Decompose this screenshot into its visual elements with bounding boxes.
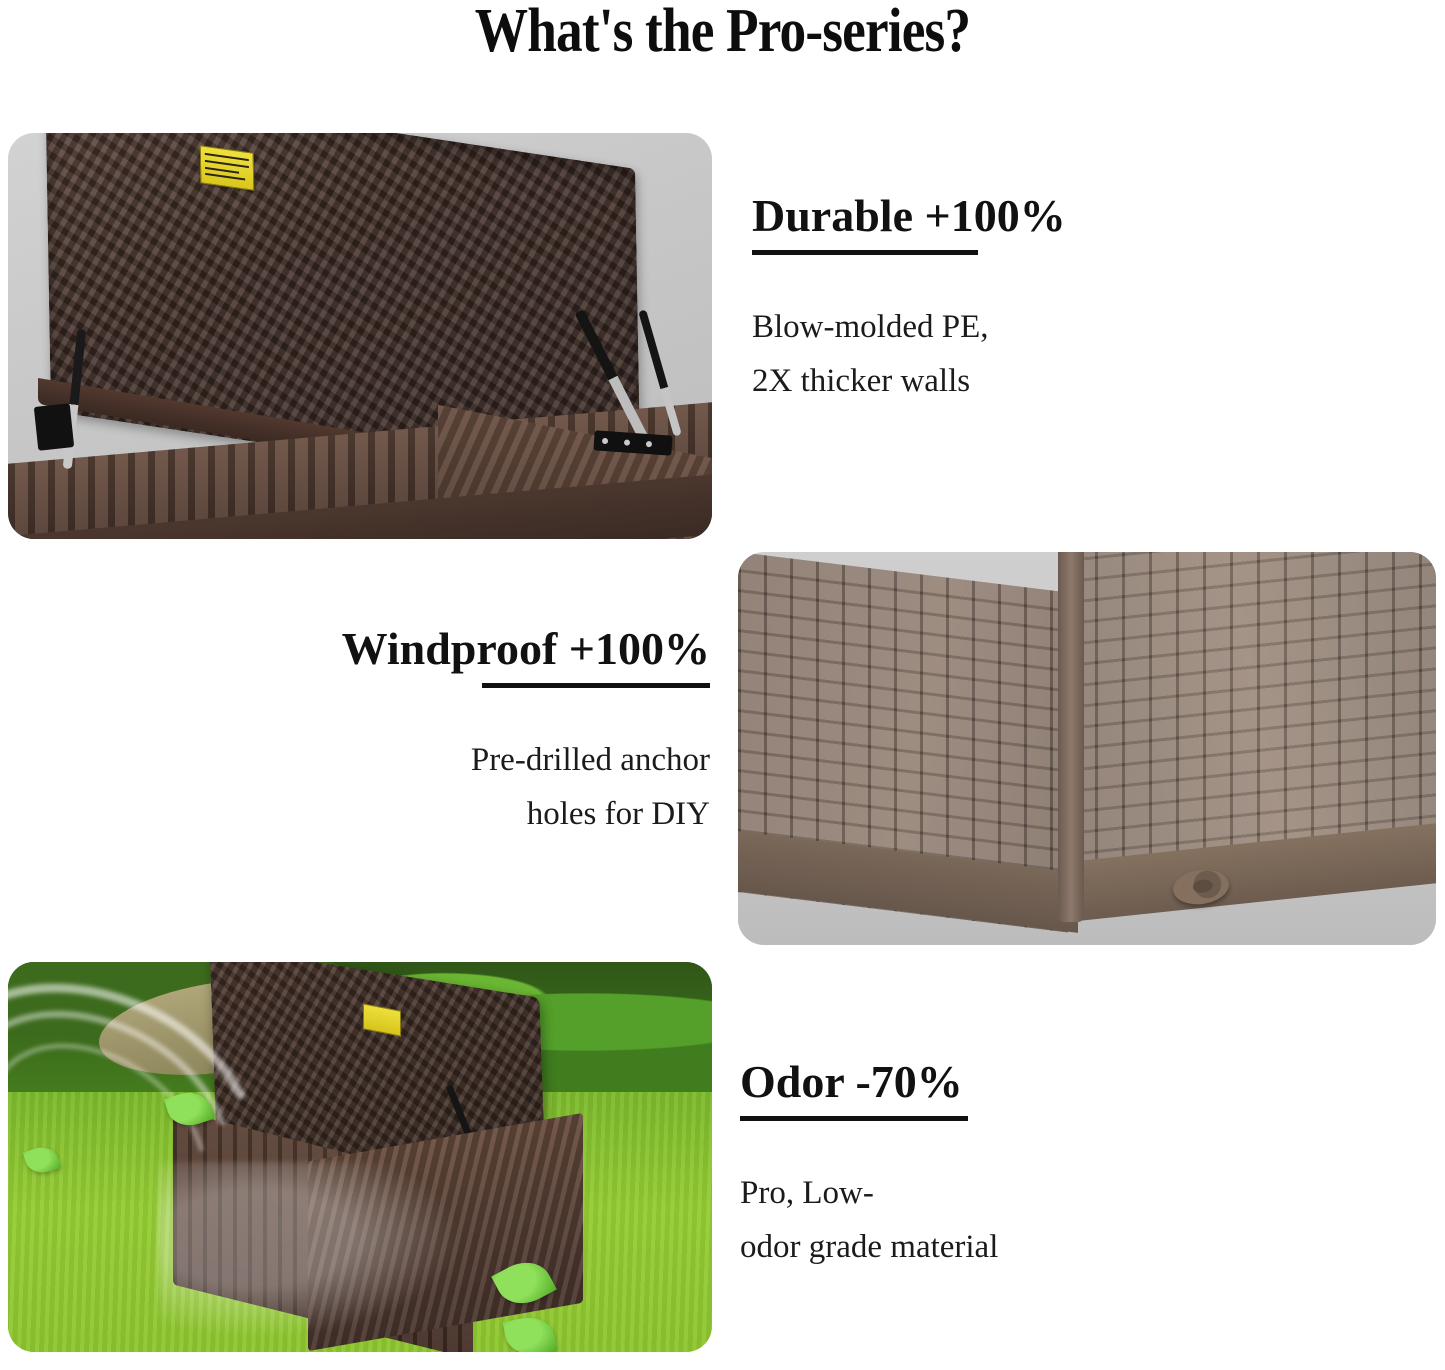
feature-body-durable: Blow-molded PE, 2X thicker walls (752, 301, 1222, 408)
image-corner-weave (738, 552, 1436, 945)
feature-heading-windproof: Windproof +100% (240, 625, 710, 673)
lid-hinge-left (34, 403, 74, 451)
feature-body-line: holes for DIY (240, 788, 710, 841)
image-open-box (8, 133, 712, 539)
image-garden-scene (8, 962, 712, 1352)
box-corner-edge (1058, 552, 1084, 922)
infographic-page: What's the Pro-series? Durable +100% Blo… (0, 0, 1445, 1370)
feature-underline-odor (740, 1116, 968, 1121)
feature-underline-windproof (482, 683, 710, 688)
feature-heading-odor: Odor -70% (740, 1058, 1210, 1106)
feature-heading-durable: Durable +100% (752, 192, 1222, 240)
feature-block-odor: Odor -70% Pro, Low- odor grade material (740, 1058, 1210, 1274)
feature-body-windproof: Pre-drilled anchor holes for DIY (240, 734, 710, 841)
feature-body-line: Blow-molded PE, (752, 301, 1222, 354)
warning-label-sticker (200, 145, 255, 191)
feature-body-line: Pre-drilled anchor (240, 734, 710, 787)
page-title: What's the Pro-series? (101, 0, 1344, 67)
feature-underline-durable (752, 250, 978, 255)
feature-body-line: odor grade material (740, 1221, 1210, 1274)
feature-body-line: Pro, Low- (740, 1167, 1210, 1220)
feature-body-odor: Pro, Low- odor grade material (740, 1167, 1210, 1274)
feature-block-windproof: Windproof +100% Pre-drilled anchor holes… (240, 625, 710, 841)
feature-body-line: 2X thicker walls (752, 355, 1222, 408)
feature-block-durable: Durable +100% Blow-molded PE, 2X thicker… (752, 192, 1222, 408)
